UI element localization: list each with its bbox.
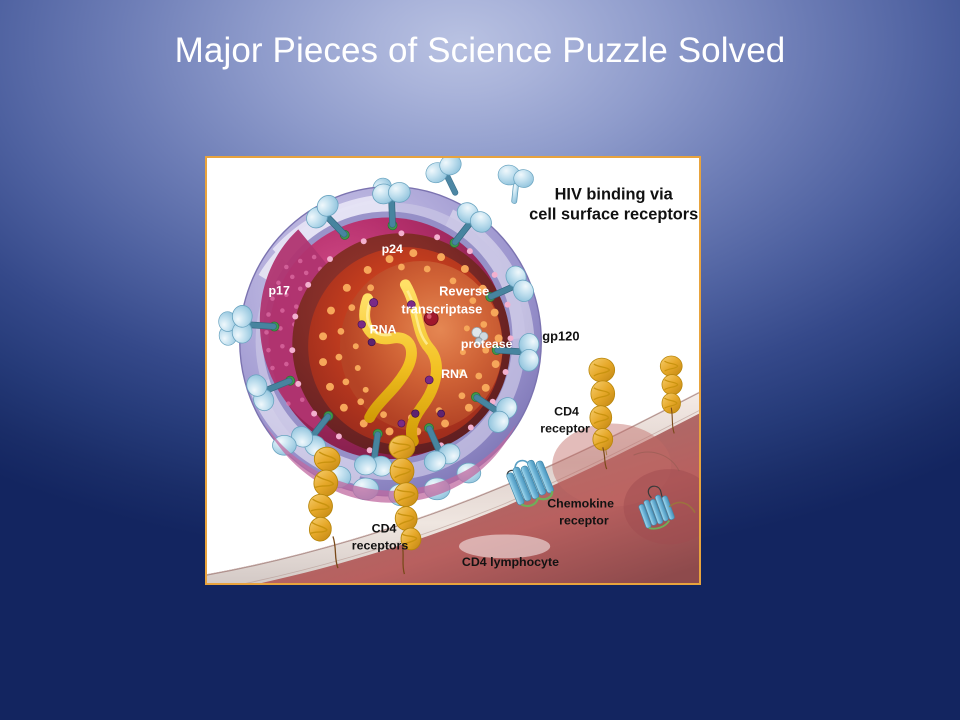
label-cd4-receptors-line1: CD4 (372, 521, 397, 535)
label-cd4-receptor-line2: receptor (540, 421, 590, 435)
label-chemokine-receptor-line1: Chemokine (547, 497, 614, 511)
figure-heading-line2: cell surface receptors (529, 205, 698, 223)
label-gp120: gp120 (542, 328, 579, 343)
label-reverse-transcriptase-line1: Reverse (439, 284, 489, 299)
label-rna-lower: RNA (441, 367, 468, 381)
label-chemokine-receptor-line2: receptor (559, 514, 609, 528)
label-cd4-receptor-line1: CD4 (554, 405, 579, 419)
label-p17: p17 (269, 284, 290, 298)
figure-image-frame[interactable]: HIV binding via cell surface receptors p… (205, 156, 701, 585)
label-cd4-lymphocyte: CD4 lymphocyte (462, 555, 559, 569)
slide-canvas: Major Pieces of Science Puzzle Solved (0, 0, 960, 720)
label-protease: protease (461, 337, 513, 351)
label-p24: p24 (382, 242, 403, 256)
hiv-binding-diagram: HIV binding via cell surface receptors p… (207, 158, 699, 583)
label-reverse-transcriptase-line2: transcriptase (401, 302, 482, 317)
label-cd4-receptors-line2: receptors (352, 538, 409, 552)
figure-heading-line1: HIV binding via (555, 186, 674, 204)
label-rna-upper: RNA (370, 322, 397, 336)
page-title: Major Pieces of Science Puzzle Solved (60, 30, 900, 72)
